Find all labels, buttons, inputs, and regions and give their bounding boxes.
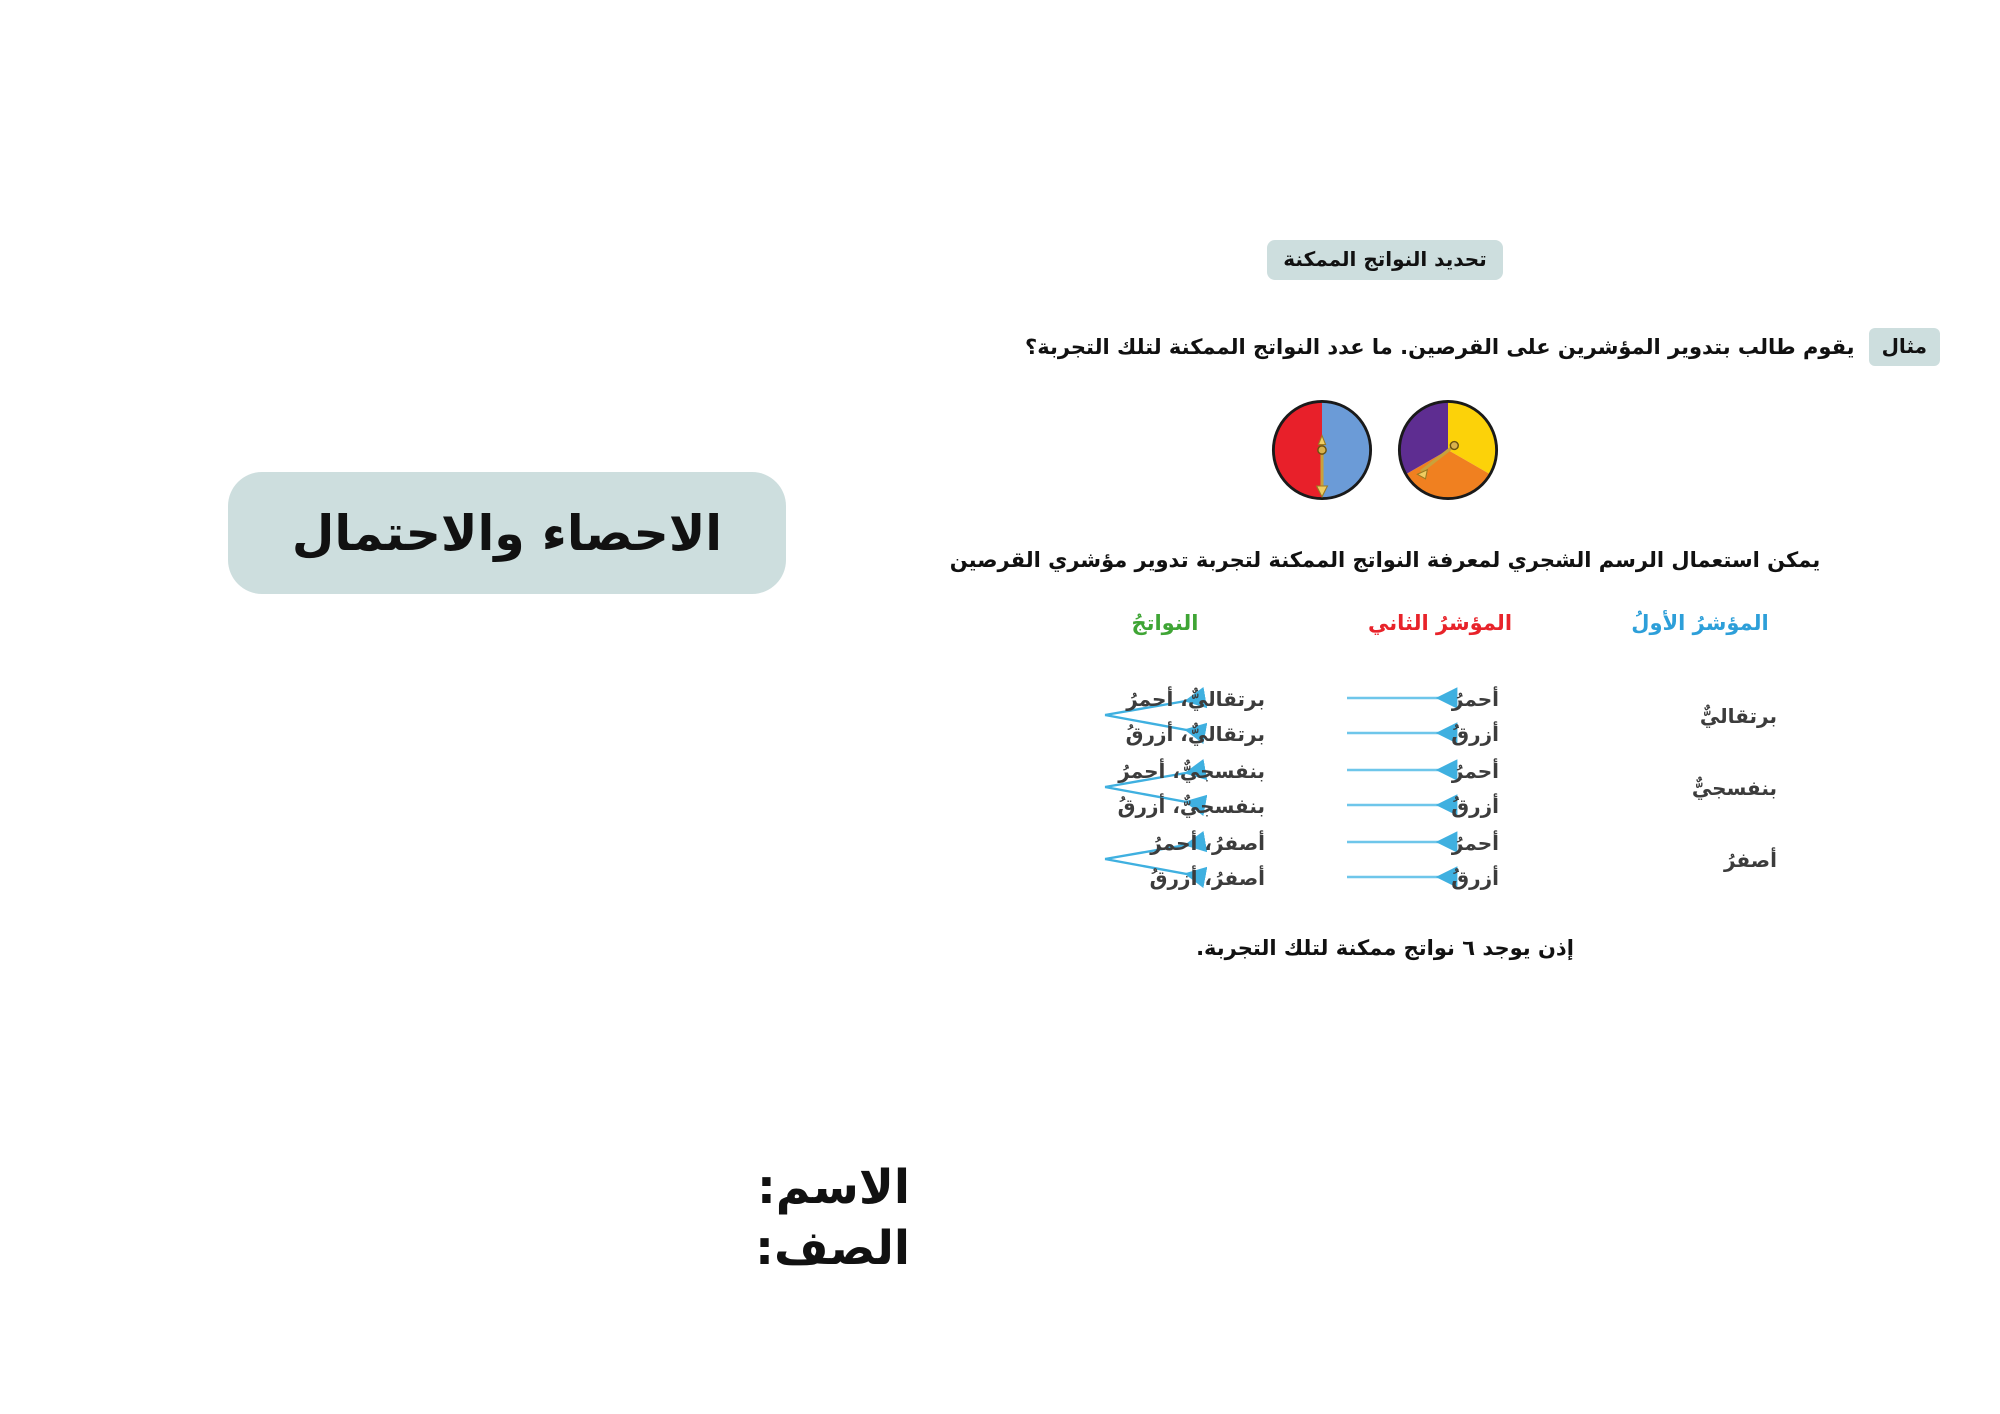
section-badge-row: تحديد النواتج الممكنة — [830, 240, 1940, 280]
sector-blue — [1322, 401, 1371, 498]
page-title: الاحصاء والاحتمال — [292, 505, 722, 562]
spinner-hub — [1450, 442, 1458, 450]
explanation-text: يمكن استعمال الرسم الشجري لمعرفة النواتج… — [830, 548, 1940, 572]
tree-outcome-1b: برتقاليٌّ، أزرقُ — [1126, 724, 1265, 744]
section-title-badge: تحديد النواتج الممكنة — [1267, 240, 1502, 280]
worksheet-page: الاحصاء والاحتمال الاسم: الصف: تحديد الن… — [0, 0, 2000, 1414]
lesson-content: تحديد النواتج الممكنة مثال يقوم طالب بتد… — [830, 240, 1940, 960]
tree-diagram: المؤشرُ الأولُ المؤشرُ الثاني النواتجُ — [985, 610, 1785, 930]
tree-outcome-3a: أصفرُ، أحمرُ — [1150, 833, 1265, 853]
tree-branch-lines — [985, 610, 1785, 930]
spinner-group — [830, 396, 1940, 504]
example-label-badge: مثال — [1869, 328, 1940, 366]
spinner-two-sectors — [1268, 396, 1376, 504]
class-field-label[interactable]: الصف: — [550, 1218, 910, 1279]
worksheet-title-pill: الاحصاء والاحتمال — [228, 472, 786, 594]
example-row: مثال يقوم طالب بتدوير المؤشرين على القرص… — [830, 328, 1940, 366]
tree-node-second-1b: أزرقُ — [1451, 724, 1499, 744]
tree-outcome-1a: برتقاليٌّ، أحمرُ — [1126, 689, 1265, 709]
sector-red — [1273, 401, 1322, 498]
spinner-three-sectors — [1394, 396, 1502, 504]
student-info-block: الاسم: الصف: — [550, 1157, 910, 1279]
tree-node-first-2: بنفسجيٌّ — [1692, 778, 1777, 798]
tree-node-second-3a: أحمرُ — [1452, 833, 1499, 853]
tree-outcome-2a: بنفسجيٌّ، أحمرُ — [1118, 761, 1265, 781]
example-question-text: يقوم طالب بتدوير المؤشرين على القرصين. م… — [1025, 328, 1855, 361]
tree-node-second-1a: أحمرُ — [1452, 689, 1499, 709]
tree-node-second-3b: أزرقُ — [1451, 868, 1499, 888]
tree-node-second-2b: أزرقُ — [1451, 796, 1499, 816]
tree-outcome-2b: بنفسجيٌّ، أزرقُ — [1118, 796, 1265, 816]
tree-node-second-2a: أحمرُ — [1452, 761, 1499, 781]
tree-outcome-3b: أصفرُ، أزرقُ — [1150, 868, 1265, 888]
tree-node-first-1: برتقاليٌّ — [1700, 706, 1777, 726]
spinner-three-sectors-svg — [1394, 396, 1502, 504]
tree-node-first-3: أصفرُ — [1724, 850, 1777, 870]
spinner-two-sectors-svg — [1268, 396, 1376, 504]
conclusion-text: إذن يوجد ٦ نواتج ممكنة لتلك التجربة. — [830, 936, 1940, 960]
spinner-hub — [1318, 446, 1326, 454]
name-field-label[interactable]: الاسم: — [550, 1157, 910, 1218]
